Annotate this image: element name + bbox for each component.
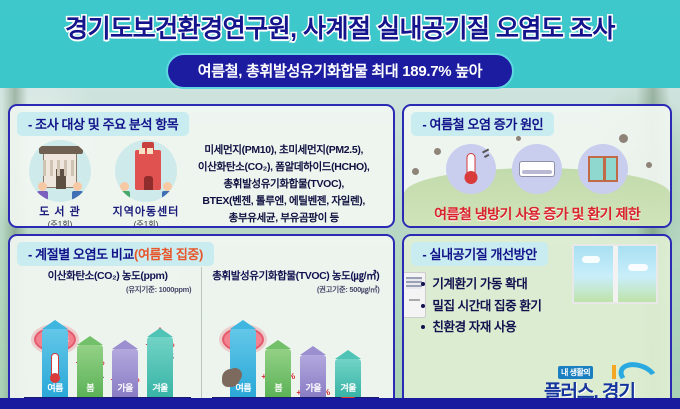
bar: 가을 bbox=[112, 349, 138, 397]
bar-category-label: 가을 bbox=[300, 381, 326, 394]
air-conditioner-icon bbox=[512, 144, 562, 194]
survey-targets-heading: - 조사 대상 및 주요 분석 항목 bbox=[17, 112, 189, 136]
list-item: 기계환기 가동 확대 bbox=[420, 274, 670, 296]
page-title: 경기도보건환경연구원, 사계절 실내공기질 오염도 조사 bbox=[0, 14, 680, 44]
seasonal-heading-accent: (여름철 집중) bbox=[134, 247, 203, 262]
chart-plot-area: 872 여름 +122.9% 391 bbox=[212, 295, 379, 399]
analyte-line: 이산화탄소(CO₂), 폼알데하이드(HCHO), bbox=[184, 159, 383, 176]
cause-icon-row bbox=[404, 144, 670, 194]
chart-title: 이산화탄소(CO₂) 농도(ppm) bbox=[16, 268, 199, 283]
survey-targets-body: 도 서 관 (주1회) 지역아동센터 bbox=[10, 136, 393, 228]
survey-site-label: 도 서 관 bbox=[22, 203, 98, 219]
chart-title: 총휘발성유기화합물(TVOC) 농도(㎍/㎥) bbox=[204, 268, 387, 283]
poster-header: 경기도보건환경연구원, 사계절 실내공기질 오염도 조사 여름철, 총휘발성유기… bbox=[0, 0, 680, 100]
charts-row: 이산화탄소(CO₂) 농도(ppm) (유지기준: 1000ppm) 1,743… bbox=[10, 266, 393, 409]
chart-standard-note: (유지기준: 1000ppm) bbox=[16, 284, 191, 295]
bar-group: 1,743 여름 bbox=[42, 329, 68, 397]
community-center-icon bbox=[115, 140, 177, 202]
bar: 봄 bbox=[265, 349, 291, 397]
survey-site-frequency: (주1회) bbox=[108, 219, 184, 228]
bar-category-label: 겨울 bbox=[147, 381, 173, 394]
improvement-list: 기계환기 가동 확대 밀집 시간대 집중 환기 친환경 자재 사용 bbox=[420, 274, 670, 339]
thermometer-icon bbox=[51, 353, 59, 379]
analyte-list: 미세먼지(PM10), 초미세먼지(PM2.5), 이산화탄소(CO₂), 폼알… bbox=[184, 140, 387, 227]
infographic-poster: 경기도보건환경연구원, 사계절 실내공기질 오염도 조사 여름철, 총휘발성유기… bbox=[0, 0, 680, 409]
survey-site-community-center: 지역아동센터 (주1회) bbox=[108, 140, 184, 228]
seasonal-heading-main: - 계절별 오염도 비교 bbox=[28, 247, 134, 262]
survey-site-library: 도 서 관 (주1회) bbox=[22, 140, 98, 228]
bar: 겨울 bbox=[335, 359, 361, 397]
bar-category-label: 겨울 bbox=[335, 381, 361, 394]
bar-group: +20.8% 1,443 겨울 bbox=[147, 337, 173, 397]
bar-category-label: 여름 bbox=[230, 381, 256, 394]
improvement-heading: - 실내공기질 개선방안 bbox=[411, 242, 547, 266]
bar: 여름 bbox=[230, 329, 256, 397]
right-column: - 여름철 오염 증가 원인 bbox=[402, 104, 672, 409]
survey-site-frequency: (주1회) bbox=[22, 219, 98, 228]
bar-category-label: 가을 bbox=[112, 381, 138, 394]
chart-plot-area: 1,743 여름 +62.8% 1,071 bbox=[24, 295, 191, 399]
chart-co2: 이산화탄소(CO₂) 농도(ppm) (유지기준: 1000ppm) 1,743… bbox=[14, 267, 201, 409]
bar-group: +80.6% 965 가을 bbox=[112, 349, 138, 397]
list-item: 친환경 자재 사용 bbox=[420, 317, 670, 339]
bar-category-label: 봄 bbox=[77, 381, 103, 394]
thermometer-icon bbox=[446, 144, 496, 194]
library-icon bbox=[29, 140, 91, 202]
cause-heading: - 여름철 오염 증가 원인 bbox=[411, 112, 554, 136]
survey-targets-panel: - 조사 대상 및 주요 분석 항목 도 서 관 (주1회) bbox=[8, 104, 395, 228]
analyte-line: 미세먼지(PM10), 초미세먼지(PM2.5), bbox=[184, 142, 383, 159]
bar-category-label: 여름 bbox=[42, 381, 68, 394]
bar-group: 872 여름 bbox=[230, 329, 256, 397]
bar: 겨울 bbox=[147, 337, 173, 397]
subtitle-badge: 여름철, 총휘발성유기화합물 최대 189.7% 높아 bbox=[166, 53, 514, 89]
content-board: - 조사 대상 및 주요 분석 항목 도 서 관 (주1회) bbox=[0, 100, 680, 409]
bar-category-label: 봄 bbox=[265, 381, 291, 394]
bar-group: +122.9% 391 봄 bbox=[265, 349, 291, 397]
closed-window-icon bbox=[578, 144, 628, 194]
analyte-line: 총휘발성유기화합물(TVOC), bbox=[184, 176, 383, 193]
chart-standard-note: (권고기준: 500㎍/㎥) bbox=[204, 284, 379, 295]
footer-bar bbox=[0, 398, 680, 409]
bar-group: +164.9% 329 가을 bbox=[300, 355, 326, 397]
bar: 여름 bbox=[42, 329, 68, 397]
analyte-line: 총부유세균, 부유곰팡이 등 bbox=[184, 210, 383, 227]
left-column: - 조사 대상 및 주요 분석 항목 도 서 관 (주1회) bbox=[8, 104, 395, 409]
cause-panel: - 여름철 오염 증가 원인 bbox=[402, 104, 672, 228]
improvement-panel: - 실내공기질 개선방안 기계환기 가동 확대 밀집 시간대 집중 환기 친환경… bbox=[402, 234, 672, 409]
list-item: 밀집 시간대 집중 환기 bbox=[420, 296, 670, 318]
cause-conclusion: 여름철 냉방기 사용 증가 및 환기 제한 bbox=[404, 204, 670, 224]
bar-group: +189.7% 301 겨울 bbox=[335, 359, 361, 397]
chart-tvoc: 총휘발성유기화합물(TVOC) 농도(㎍/㎥) (권고기준: 500㎍/㎥) 8… bbox=[201, 267, 389, 409]
survey-site-list: 도 서 관 (주1회) 지역아동센터 bbox=[18, 140, 184, 228]
survey-site-label: 지역아동센터 bbox=[108, 203, 184, 219]
seasonal-comparison-panel: - 계절별 오염도 비교(여름철 집중) 이산화탄소(CO₂) 농도(ppm) … bbox=[8, 234, 395, 409]
seasonal-comparison-heading: - 계절별 오염도 비교(여름철 집중) bbox=[17, 242, 214, 266]
bar: 가을 bbox=[300, 355, 326, 397]
bar-group: +62.8% 1,071 봄 bbox=[77, 345, 103, 397]
analyte-line: BTEX(벤젠, 톨루엔, 에틸벤젠, 자일렌), bbox=[184, 193, 383, 210]
bar: 봄 bbox=[77, 345, 103, 397]
